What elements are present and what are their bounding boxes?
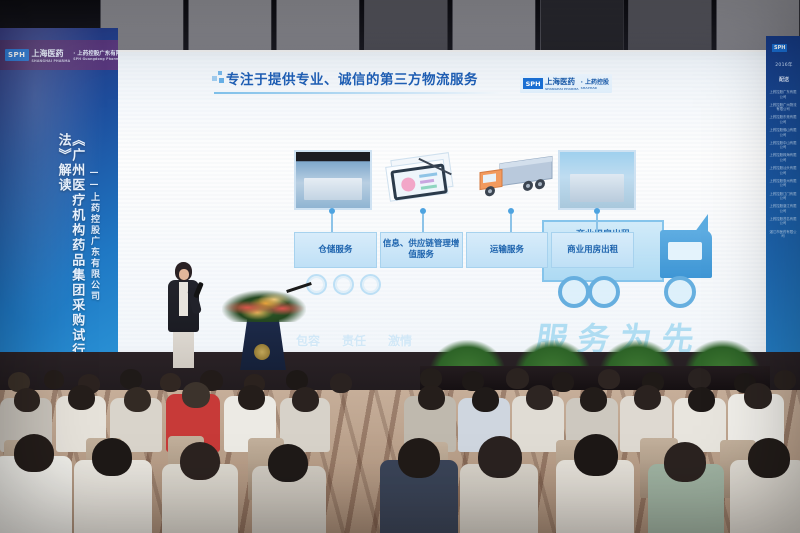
speaker-skirt — [173, 328, 194, 368]
connector-line — [331, 214, 333, 232]
list-item: 湛江市医药有限公司 — [768, 230, 798, 239]
list-item: 上药控股湛江有限公司 — [768, 204, 798, 213]
left-banner-company-suffix-en: SPH Guangdong Pharmaceutical Co.,Ltd — [73, 57, 118, 61]
audience-head — [748, 438, 790, 478]
decorative-rings — [306, 274, 381, 295]
ceiling-panels — [100, 0, 800, 50]
ceiling-panel — [628, 0, 712, 50]
service-box: 信息、供应链管理增值服务 — [380, 232, 463, 268]
list-item: 上药控股江门有限公司 — [768, 192, 798, 201]
ceiling — [0, 0, 800, 56]
office-building-photo — [558, 150, 636, 210]
list-item: 上药控股茂名有限公司 — [768, 217, 798, 226]
audience — [0, 368, 800, 533]
audience-head — [478, 436, 522, 478]
audience-head — [14, 388, 40, 412]
audience-head — [330, 373, 352, 393]
left-banner: SPH 上海医药 SHANGHAI PHARMA · 上药控股广东有限公司 SP… — [0, 28, 118, 368]
truck-wheel — [558, 276, 590, 308]
warehouse-photo — [294, 150, 372, 210]
audience-head — [120, 369, 142, 389]
truck-wheel — [588, 276, 620, 308]
audience-head — [182, 382, 210, 408]
audience-head — [634, 385, 661, 410]
slide-logo-en: SHANGHAI PHARMA — [545, 87, 579, 91]
connector-line — [422, 214, 424, 232]
slide-logo-suffix: · 上药控股 SHAPHAR — [581, 77, 609, 90]
podium-emblem-icon — [254, 344, 270, 360]
audience-head — [268, 444, 308, 482]
ceiling-panel — [452, 0, 536, 50]
bottom-word: 包容 — [296, 332, 320, 349]
audience-head — [160, 373, 181, 392]
list-item: 上药控股广东有限公司 — [768, 90, 798, 99]
bottom-word: 责任 — [342, 332, 366, 349]
conference-photo: SPH 上海医药 SHANGHAI PHARMA · 上药控股广东有限公司 SP… — [0, 0, 800, 533]
list-item: 上药控股珠海有限公司 — [768, 153, 798, 162]
speaker-face — [179, 269, 189, 280]
right-banner: SPH 2016年 配送 上药控股广东有限公司 上药控股广州物流有限公司 上药控… — [766, 36, 800, 366]
list-item: 上药控股东莞有限公司 — [768, 115, 798, 124]
audience-head — [552, 372, 574, 392]
audience-head — [580, 387, 607, 412]
slide-image-row — [290, 150, 640, 216]
ring-icon — [360, 274, 381, 295]
left-banner-vertical-title: 《广州医疗机构药品集团采购试行办法》解读 — [56, 133, 83, 378]
slide-logo-suffix-en: SHAPHAR — [581, 86, 609, 90]
title-square-icon — [218, 71, 222, 75]
speaker-shirt — [179, 282, 188, 316]
list-item: 上药控股佛山有限公司 — [768, 128, 798, 137]
flower-arrangement — [222, 290, 306, 322]
connector-line — [596, 214, 598, 232]
left-banner-company-en: SHANGHAI PHARMA — [32, 59, 71, 63]
connector-line — [510, 214, 512, 232]
left-banner-vertical-subtitle: ——上药控股广东有限公司 — [88, 168, 101, 358]
ceiling-panel — [188, 0, 272, 50]
ring-icon — [333, 274, 354, 295]
service-box: 仓储服务 — [294, 232, 377, 268]
audience-head — [418, 385, 445, 410]
audience-head — [292, 387, 319, 412]
audience-head — [124, 387, 151, 412]
audience-head — [574, 434, 618, 476]
list-item: 上药控股惠州有限公司 — [768, 179, 798, 188]
audience-head — [472, 387, 499, 412]
right-banner-chip: SPH — [772, 44, 787, 52]
truck-watermark-icon: 商业用房出租 — [536, 212, 746, 327]
bottom-word: 激情 — [388, 332, 412, 349]
service-boxes: 仓储服务 信息、供应链管理增值服务 运输服务 商业用房出租 — [294, 232, 634, 268]
left-banner-company-suffix: · 上药控股广东有限公司 SPH Guangdong Pharmaceutica… — [73, 49, 118, 61]
audience-head — [92, 438, 132, 476]
title-square-icon — [219, 78, 224, 83]
left-banner-header: SPH 上海医药 SHANGHAI PHARMA · 上药控股广东有限公司 SP… — [0, 40, 118, 70]
audience-head — [506, 368, 529, 389]
sph-logo-chip: SPH — [5, 49, 29, 61]
slide-title: 专注于提供专业、诚信的第三方物流服务 — [226, 68, 478, 88]
audience-head — [398, 438, 440, 478]
audience-head — [664, 442, 706, 482]
ceiling-panel — [540, 0, 624, 50]
ceiling-panel — [364, 0, 448, 50]
audience-head — [688, 368, 711, 389]
title-underline — [214, 92, 504, 94]
list-item: 上药控股中山有限公司 — [768, 141, 798, 150]
audience-head — [744, 383, 772, 409]
slide-logo: SPH 上海医药 SHANGHAI PHARMA · 上药控股 SHAPHAR — [520, 74, 612, 93]
slide-logo-cn: 上海医药 SHANGHAI PHARMA — [545, 76, 579, 91]
slide-content: 专注于提供专业、诚信的第三方物流服务 SPH 上海医药 SHANGHAI PHA… — [206, 62, 616, 312]
ceiling-panel — [276, 0, 360, 50]
audience-head — [238, 385, 265, 410]
audience-head — [526, 385, 553, 410]
title-square-icon — [212, 76, 217, 81]
audience-head — [68, 385, 95, 410]
right-banner-heading: 配送 — [769, 76, 799, 83]
list-item: 上药控股广州物流有限公司 — [768, 103, 798, 112]
truck-wheel — [664, 276, 696, 308]
service-box: 运输服务 — [466, 232, 549, 268]
truck-window — [668, 242, 702, 260]
tablet-documents-illustration — [382, 152, 470, 210]
sph-logo-chip: SPH — [523, 78, 543, 89]
audience-head — [688, 387, 715, 412]
audience-head — [598, 369, 620, 389]
right-banner-list: 上药控股广东有限公司 上药控股广州物流有限公司 上药控股东莞有限公司 上药控股佛… — [768, 90, 798, 242]
audience-head — [774, 370, 796, 390]
delivery-truck-illustration — [470, 152, 558, 210]
audience-head — [14, 434, 54, 472]
audience-head — [180, 442, 220, 480]
list-item: 上药控股汕头有限公司 — [768, 166, 798, 175]
speaker — [166, 262, 202, 368]
service-box: 商业用房出租 — [551, 232, 634, 268]
audience-head — [44, 370, 64, 389]
right-banner-year: 2016年 — [769, 62, 799, 68]
left-banner-company-cn: 上海医药 SHANGHAI PHARMA — [32, 48, 71, 63]
